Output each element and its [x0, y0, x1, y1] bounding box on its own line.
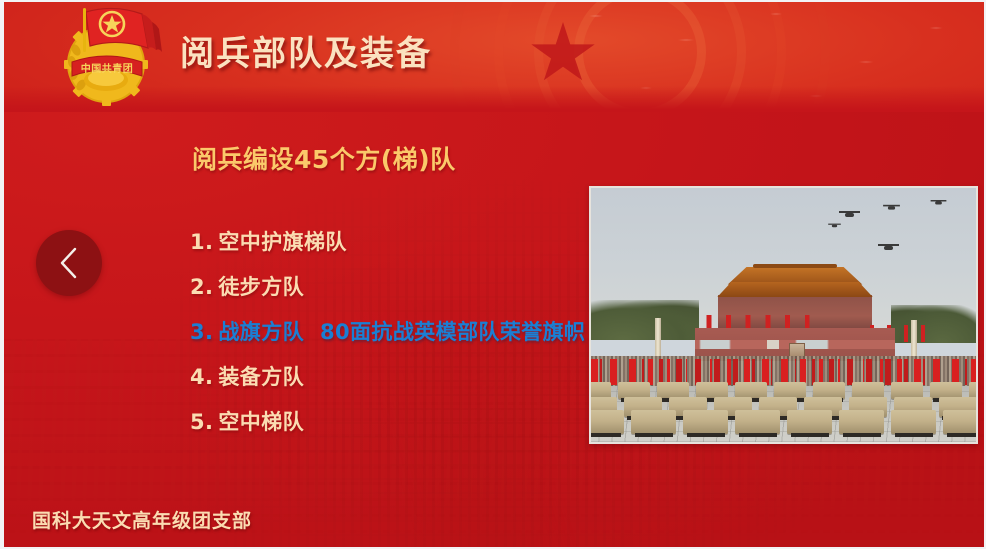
- list-item-number: 2.: [190, 275, 213, 299]
- helicopter-icon: [935, 201, 942, 204]
- helicopter-icon: [845, 213, 854, 217]
- page-title: 阅兵部队及装备: [180, 26, 432, 75]
- section-subtitle: 阅兵编设45个方(梯)队: [192, 140, 456, 176]
- footer-organization: 国科大天文高年级团支部: [32, 506, 252, 533]
- back-button[interactable]: [36, 230, 102, 296]
- list-item-label: 徒步方队: [218, 275, 304, 299]
- helicopter-icon: [831, 224, 836, 226]
- chevron-left-icon: [58, 246, 80, 280]
- helicopter-icon: [888, 206, 895, 209]
- list-item-label: 空中护旗梯队: [218, 230, 346, 254]
- communist-youth-league-emblem-icon: 中国共青团: [56, 2, 168, 106]
- list-item-label: 空中梯队: [218, 410, 304, 434]
- list-item: 2.徒步方队: [190, 271, 585, 301]
- list-item-number: 3.: [190, 320, 213, 344]
- list-item-label: 装备方队: [218, 365, 304, 389]
- list-item: 1.空中护旗梯队: [190, 226, 585, 256]
- svg-text:中国共青团: 中国共青团: [81, 62, 134, 75]
- list-item-highlighted: 3.战旗方队80面抗战英模部队荣誉旗帜: [190, 316, 585, 346]
- list-item: 5.空中梯队: [190, 406, 585, 436]
- formation-list: 1.空中护旗梯队 2.徒步方队 3.战旗方队80面抗战英模部队荣誉旗帜 4.装备…: [190, 226, 585, 451]
- list-item-number: 1.: [190, 230, 213, 254]
- slide-root: 中国共青团 阅兵部队及装备 阅兵编设45个方(梯)队: [0, 0, 986, 549]
- tiananmen-military-parade-photo: [589, 186, 978, 444]
- helicopter-icon: [884, 246, 893, 250]
- list-item: 4.装备方队: [190, 361, 585, 391]
- list-item-number: 4.: [190, 365, 213, 389]
- list-item-detail: 80面抗战英模部队荣誉旗帜: [320, 320, 585, 344]
- list-item-label: 战旗方队: [218, 320, 304, 344]
- list-item-number: 5.: [190, 410, 213, 434]
- vehicle-row: [589, 410, 978, 434]
